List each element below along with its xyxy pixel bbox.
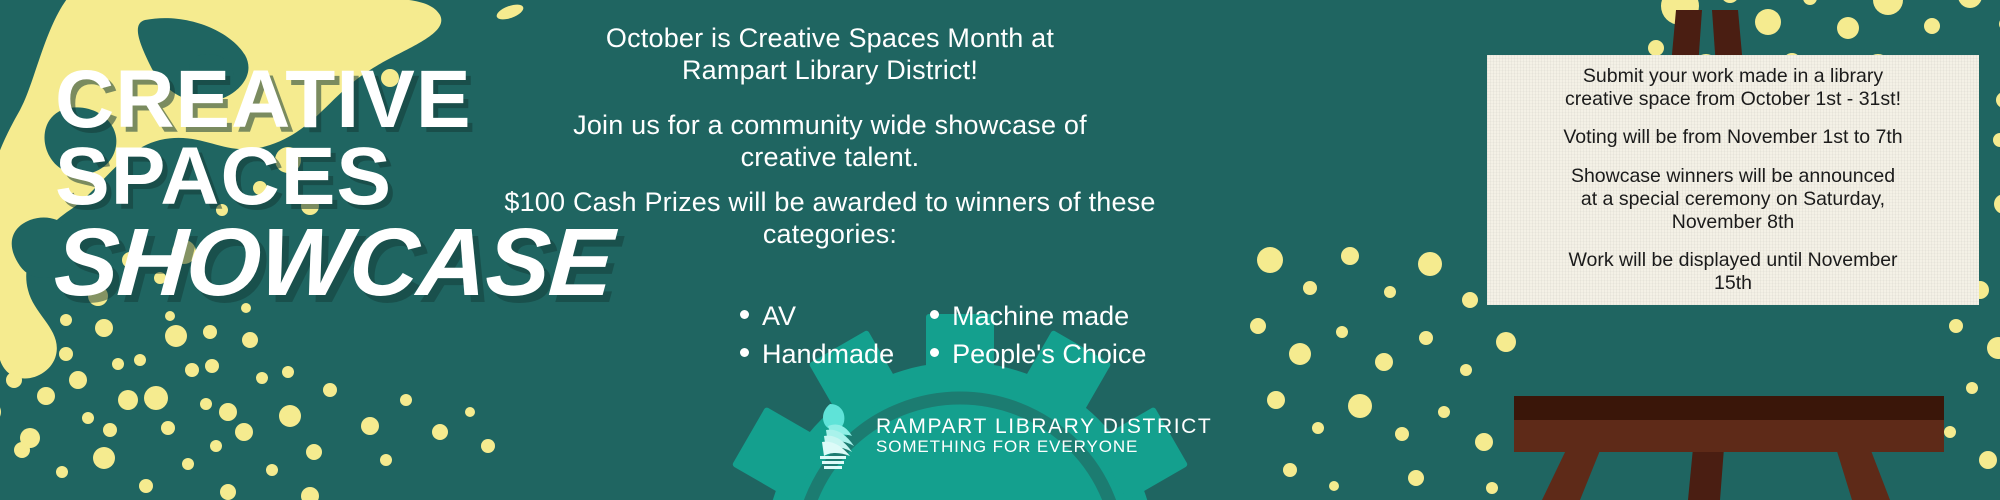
logo-name: RAMPART LIBRARY DISTRICT xyxy=(876,416,1212,438)
rampart-library-logo: RAMPART LIBRARY DISTRICT SOMETHING FOR E… xyxy=(810,400,1212,472)
category-label: AV xyxy=(762,300,796,334)
category-label: Machine made xyxy=(952,300,1129,334)
sign-line-3: Voting will be from November 1st to 7th xyxy=(1563,126,1902,149)
sign-line-8: 15th xyxy=(1714,272,1752,295)
paint-splatter-bottom-left-decoration xyxy=(0,300,520,500)
list-item: AV xyxy=(740,300,894,334)
bullet-dot-icon xyxy=(930,310,939,319)
category-label: People's Choice xyxy=(952,338,1146,372)
sign-line-5: at a special ceremony on Saturday, xyxy=(1581,188,1885,211)
intro-line-2: Rampart Library District! xyxy=(490,54,1170,86)
sign-line-6: November 8th xyxy=(1672,211,1794,234)
sign-line-7: Work will be displayed until November xyxy=(1568,249,1897,272)
logo-tagline: SOMETHING FOR EVERYONE xyxy=(876,438,1212,456)
list-item: Machine made xyxy=(930,300,1146,334)
prizes-line-2: categories: xyxy=(490,218,1170,250)
list-item: People's Choice xyxy=(930,338,1146,372)
prizes-line-1: $100 Cash Prizes will be awarded to winn… xyxy=(490,186,1170,218)
join-line-1: Join us for a community wide showcase of xyxy=(490,109,1170,141)
category-list: AV Handmade Machine made People's Choice xyxy=(740,300,1340,372)
category-column-right: Machine made People's Choice xyxy=(930,300,1146,372)
bullet-dot-icon xyxy=(930,348,939,357)
bullet-dot-icon xyxy=(740,310,749,319)
logo-text-block: RAMPART LIBRARY DISTRICT SOMETHING FOR E… xyxy=(876,416,1212,456)
promo-banner: CREATIVE SPACES SHOWCASE xyxy=(0,0,2000,500)
intro-line-1: October is Creative Spaces Month at xyxy=(490,22,1170,54)
category-label: Handmade xyxy=(762,338,894,372)
bullet-dot-icon xyxy=(740,348,749,357)
sign-line-4: Showcase winners will be announced xyxy=(1571,165,1895,188)
join-line-2: creative talent. xyxy=(490,141,1170,173)
list-item: Handmade xyxy=(740,338,894,372)
open-book-flame-icon xyxy=(810,400,864,472)
category-column-left: AV Handmade xyxy=(740,300,894,372)
center-copy-block: October is Creative Spaces Month at Ramp… xyxy=(490,22,1170,250)
sign-line-1: Submit your work made in a library xyxy=(1583,65,1883,88)
announcement-sign: Submit your work made in a library creat… xyxy=(1487,55,1979,305)
sign-line-2: creative space from October 1st - 31st! xyxy=(1565,88,1901,111)
